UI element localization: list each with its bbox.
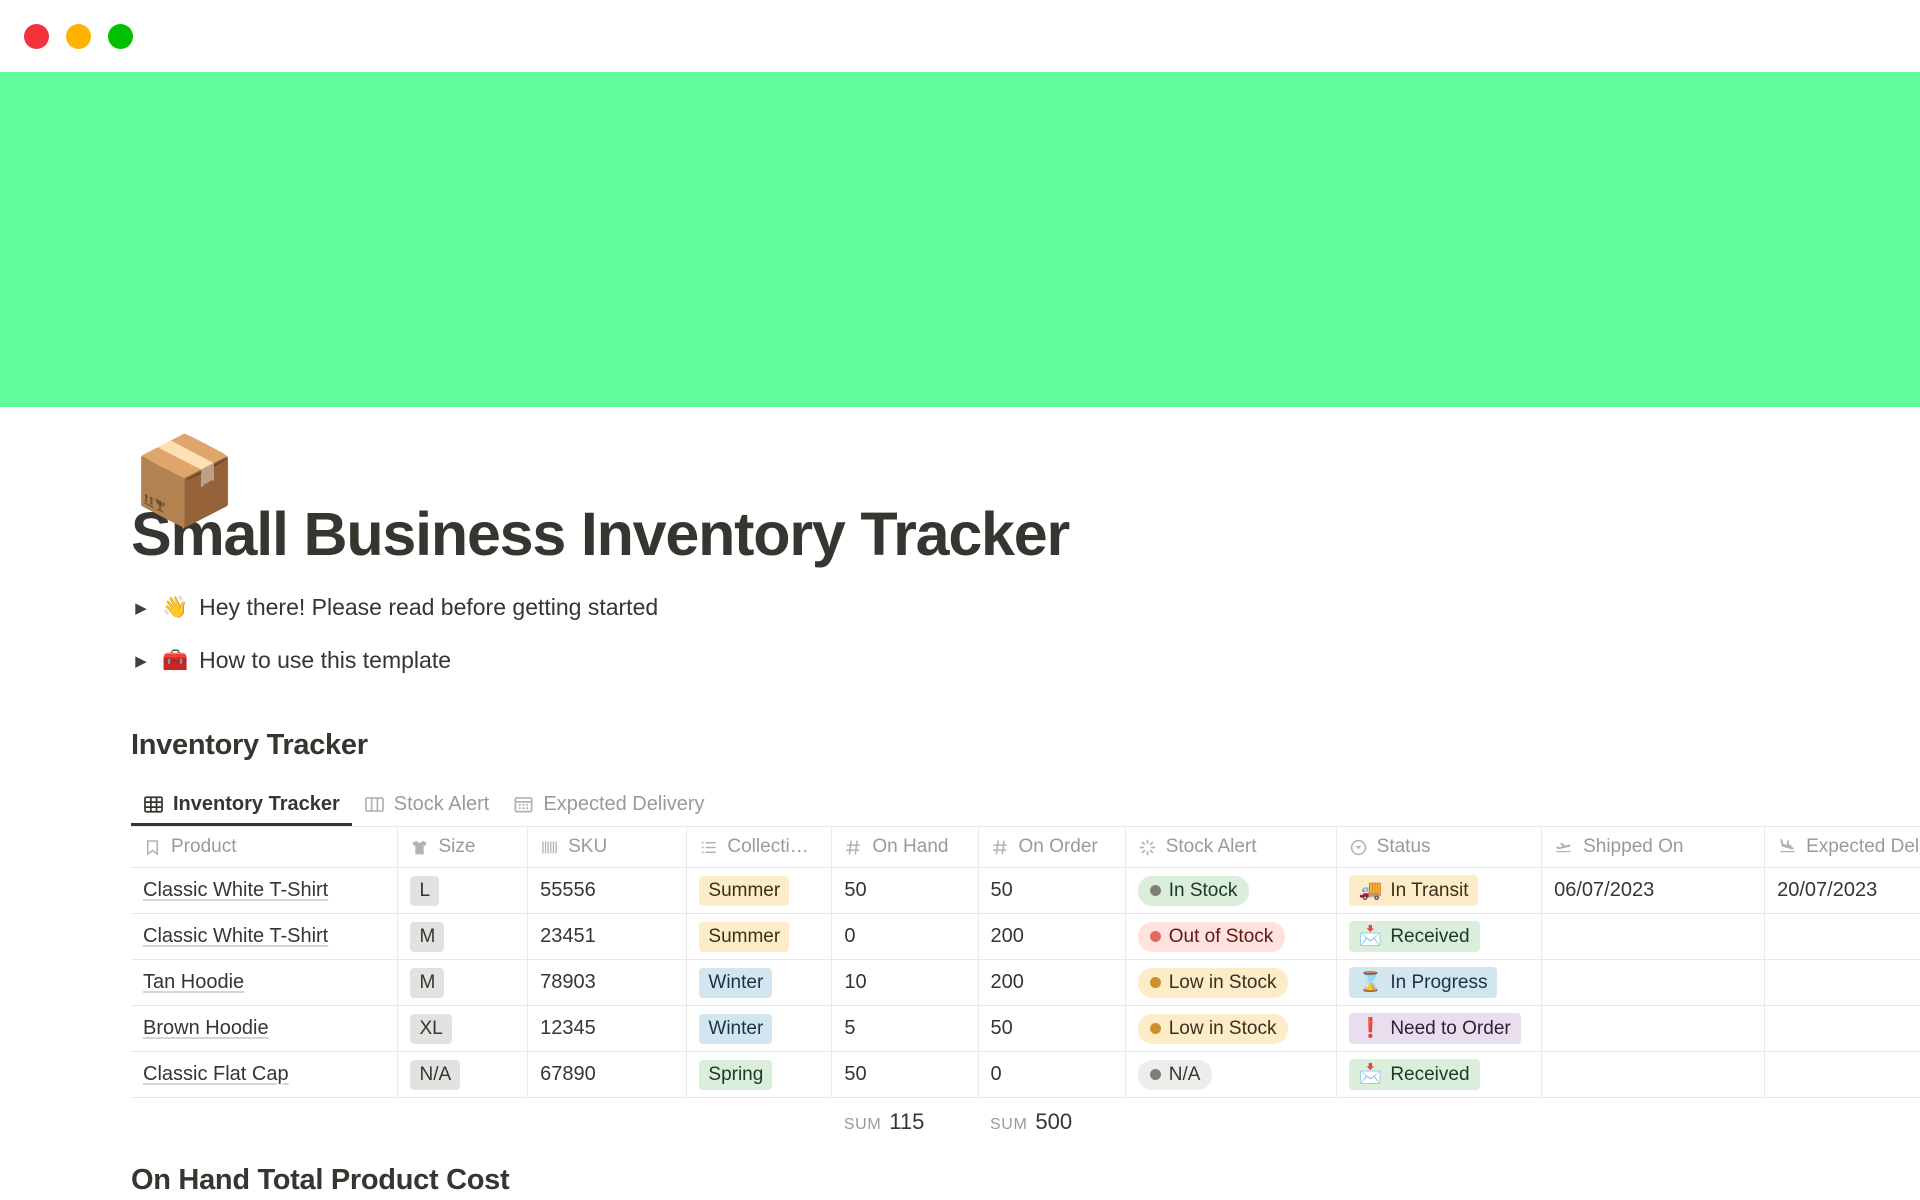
cell-shipped-on[interactable]: 06/07/2023 xyxy=(1542,868,1765,914)
product-link[interactable]: Classic White T-Shirt xyxy=(143,925,328,947)
cell-collection[interactable]: Winter xyxy=(687,1006,832,1052)
toggle-block-welcome[interactable]: ▶ 👋 Hey there! Please read before gettin… xyxy=(131,594,1920,621)
summary-on-hand[interactable]: SUM115 xyxy=(832,1098,978,1142)
cell-on-order[interactable]: 0 xyxy=(978,1052,1125,1098)
table-row[interactable]: Classic White T-Shirt L 55556 Summer 50 … xyxy=(131,868,1920,914)
cell-on-hand[interactable]: 10 xyxy=(832,960,978,1006)
collection-chip: Winter xyxy=(699,1014,772,1044)
status-badge: In Stock xyxy=(1138,876,1250,906)
plane-departure-icon xyxy=(1554,837,1574,857)
cell-collection[interactable]: Winter xyxy=(687,960,832,1006)
cell-stock-alert[interactable]: Low in Stock xyxy=(1125,1006,1336,1052)
cell-stock-alert[interactable]: Low in Stock xyxy=(1125,960,1336,1006)
cell-expected-delivery[interactable] xyxy=(1765,1052,1920,1098)
cell-size[interactable]: M xyxy=(398,914,528,960)
cell-sku[interactable]: 12345 xyxy=(528,1006,687,1052)
toggle-label-welcome: Hey there! Please read before getting st… xyxy=(199,594,658,621)
chevron-right-icon[interactable]: ▶ xyxy=(131,651,151,671)
toolbox-icon: 🧰 xyxy=(162,649,188,673)
status-dot-icon xyxy=(1150,885,1161,896)
tab-inventory-tracker[interactable]: Inventory Tracker xyxy=(131,793,352,826)
cell-status[interactable]: ⌛In Progress xyxy=(1336,960,1541,1006)
cell-collection[interactable]: Summer xyxy=(687,868,832,914)
loading-icon xyxy=(1138,838,1157,857)
column-header-stock-alert[interactable]: Stock Alert xyxy=(1125,827,1336,868)
exclamation-icon: ❗ xyxy=(1359,1016,1383,1041)
status-dot-icon xyxy=(1150,1069,1161,1080)
column-header-label: Stock Alert xyxy=(1166,836,1257,858)
number-icon xyxy=(991,838,1010,857)
cell-sku[interactable]: 55556 xyxy=(528,868,687,914)
status-badge: 🚚In Transit xyxy=(1349,875,1479,906)
status-badge: Out of Stock xyxy=(1138,922,1286,952)
column-header-label: Collecti… xyxy=(727,836,808,858)
board-icon xyxy=(364,794,385,815)
cell-product[interactable]: Classic Flat Cap xyxy=(131,1052,398,1098)
close-button[interactable] xyxy=(24,24,49,49)
column-header-on-hand[interactable]: On Hand xyxy=(832,827,978,868)
inventory-table-wrapper: Product Size xyxy=(0,826,1920,1142)
hourglass-icon: ⌛ xyxy=(1359,970,1383,995)
status-badge: N/A xyxy=(1138,1060,1213,1090)
table-row[interactable]: Tan Hoodie M 78903 Winter 10 200 Low in … xyxy=(131,960,1920,1006)
toggle-block-howto[interactable]: ▶ 🧰 How to use this template xyxy=(131,647,1920,674)
cell-on-order[interactable]: 50 xyxy=(978,1006,1125,1052)
collection-chip: Winter xyxy=(699,968,772,998)
cell-expected-delivery[interactable] xyxy=(1765,960,1920,1006)
bookmark-icon xyxy=(143,838,162,857)
cell-on-hand[interactable]: 50 xyxy=(832,1052,978,1098)
cell-shipped-on[interactable] xyxy=(1542,960,1765,1006)
collection-chip: Spring xyxy=(699,1060,772,1090)
cell-shipped-on[interactable] xyxy=(1542,1052,1765,1098)
status-badge: ⌛In Progress xyxy=(1349,967,1498,998)
truck-icon: 🚚 xyxy=(1359,878,1383,903)
tshirt-icon xyxy=(410,838,429,857)
size-chip: M xyxy=(410,922,444,952)
cell-product[interactable]: Classic White T-Shirt xyxy=(131,914,398,960)
calendar-icon xyxy=(513,794,534,815)
summary-value: 115 xyxy=(889,1109,924,1134)
cell-stock-alert[interactable]: Out of Stock xyxy=(1125,914,1336,960)
cell-on-order[interactable]: 200 xyxy=(978,914,1125,960)
cell-status[interactable]: 🚚In Transit xyxy=(1336,868,1541,914)
cell-on-hand[interactable]: 0 xyxy=(832,914,978,960)
column-header-label: Expected Delivery xyxy=(1806,836,1920,858)
chevron-right-icon[interactable]: ▶ xyxy=(131,598,151,618)
cell-size[interactable]: N/A xyxy=(398,1052,528,1098)
size-chip: XL xyxy=(410,1014,451,1044)
column-header-label: SKU xyxy=(568,836,607,858)
cell-status[interactable]: ❗Need to Order xyxy=(1336,1006,1541,1052)
section-heading-on-hand-total-product-cost: On Hand Total Product Cost xyxy=(131,1164,1920,1197)
minimize-button[interactable] xyxy=(66,24,91,49)
maximize-button[interactable] xyxy=(108,24,133,49)
cell-on-hand[interactable]: 5 xyxy=(832,1006,978,1052)
collection-chip: Summer xyxy=(699,922,789,952)
column-header-label: Size xyxy=(438,836,475,858)
cell-status[interactable]: 📩Received xyxy=(1336,914,1541,960)
column-header-shipped-on[interactable]: Shipped On xyxy=(1542,827,1765,868)
cell-product[interactable]: Brown Hoodie xyxy=(131,1006,398,1052)
cell-stock-alert[interactable]: In Stock xyxy=(1125,868,1336,914)
barcode-icon xyxy=(540,838,559,857)
cell-on-order[interactable]: 200 xyxy=(978,960,1125,1006)
tab-expected-delivery[interactable]: Expected Delivery xyxy=(501,793,716,826)
package-icon[interactable]: 📦 xyxy=(131,438,238,524)
page-cover-image[interactable] xyxy=(0,72,1920,407)
table-summary-row: SUM115 SUM500 xyxy=(131,1098,1920,1142)
cell-shipped-on[interactable] xyxy=(1542,914,1765,960)
column-header-on-order[interactable]: On Order xyxy=(978,827,1125,868)
page-content: 📦 Small Business Inventory Tracker ▶ 👋 H… xyxy=(0,501,1920,1197)
tab-label: Stock Alert xyxy=(394,793,490,816)
column-header-collection[interactable]: Collecti… xyxy=(687,827,832,868)
size-chip: M xyxy=(410,968,444,998)
cell-product[interactable]: Classic White T-Shirt xyxy=(131,868,398,914)
toggle-label-howto: How to use this template xyxy=(199,647,451,674)
column-header-label: Shipped On xyxy=(1583,836,1683,858)
status-dot-icon xyxy=(1150,1023,1161,1034)
status-badge: ❗Need to Order xyxy=(1349,1013,1521,1044)
status-badge: Low in Stock xyxy=(1138,1014,1289,1044)
tab-label: Inventory Tracker xyxy=(173,793,340,816)
summary-label: SUM xyxy=(990,1116,1027,1133)
cell-status[interactable]: 📩Received xyxy=(1336,1052,1541,1098)
table-row[interactable]: Brown Hoodie XL 12345 Winter 5 50 Low in… xyxy=(131,1006,1920,1052)
product-link[interactable]: Classic Flat Cap xyxy=(143,1063,289,1085)
window-titlebar xyxy=(0,0,1920,72)
status-dot-icon xyxy=(1150,931,1161,942)
column-header-label: On Order xyxy=(1019,836,1098,858)
table-row[interactable]: Classic Flat Cap N/A 67890 Spring 50 0 N… xyxy=(131,1052,1920,1098)
cell-expected-delivery[interactable] xyxy=(1765,1006,1920,1052)
cell-product[interactable]: Tan Hoodie xyxy=(131,960,398,1006)
plane-arrival-icon xyxy=(1777,837,1797,857)
cell-sku[interactable]: 78903 xyxy=(528,960,687,1006)
cell-size[interactable]: L xyxy=(398,868,528,914)
status-badge: 📩Received xyxy=(1349,1059,1480,1090)
column-header-status[interactable]: Status xyxy=(1336,827,1541,868)
summary-value: 500 xyxy=(1035,1109,1072,1134)
page-title: Small Business Inventory Tracker xyxy=(131,501,1920,568)
cell-expected-delivery[interactable] xyxy=(1765,914,1920,960)
column-header-label: Status xyxy=(1377,836,1431,858)
wave-icon: 👋 xyxy=(162,596,188,620)
inbox-icon: 📩 xyxy=(1359,924,1383,949)
table-icon xyxy=(143,794,164,815)
cell-expected-delivery[interactable]: 20/07/2023 xyxy=(1765,868,1920,914)
inbox-icon: 📩 xyxy=(1359,1062,1383,1087)
column-header-label: Product xyxy=(171,836,236,858)
column-header-product[interactable]: Product xyxy=(131,827,398,868)
status-badge: 📩Received xyxy=(1349,921,1480,952)
summary-label: SUM xyxy=(844,1116,881,1133)
column-header-label: On Hand xyxy=(872,836,948,858)
cell-on-order[interactable]: 50 xyxy=(978,868,1125,914)
number-icon xyxy=(844,838,863,857)
cell-shipped-on[interactable] xyxy=(1542,1006,1765,1052)
cell-collection[interactable]: Spring xyxy=(687,1052,832,1098)
cell-collection[interactable]: Summer xyxy=(687,914,832,960)
column-header-expected-delivery[interactable]: Expected Delivery xyxy=(1765,827,1920,868)
summary-on-order[interactable]: SUM500 xyxy=(978,1098,1125,1142)
status-dot-icon xyxy=(1150,977,1161,988)
tab-label: Expected Delivery xyxy=(543,793,704,816)
section-heading-inventory-tracker: Inventory Tracker xyxy=(131,729,1920,762)
inventory-table: Product Size xyxy=(131,826,1920,1142)
product-link[interactable]: Tan Hoodie xyxy=(143,971,244,993)
size-chip: L xyxy=(410,876,439,906)
table-header-row: Product Size xyxy=(131,827,1920,868)
cell-sku[interactable]: 23451 xyxy=(528,914,687,960)
select-icon xyxy=(1349,838,1368,857)
database-view-tabs: Inventory Tracker Stock Alert xyxy=(131,784,1920,826)
cell-stock-alert[interactable]: N/A xyxy=(1125,1052,1336,1098)
collection-chip: Summer xyxy=(699,876,789,906)
column-header-size[interactable]: Size xyxy=(398,827,528,868)
list-icon xyxy=(699,838,718,857)
tab-stock-alert[interactable]: Stock Alert xyxy=(352,793,502,826)
product-link[interactable]: Brown Hoodie xyxy=(143,1017,269,1039)
table-body: Classic White T-Shirt L 55556 Summer 50 … xyxy=(131,868,1920,1142)
cell-size[interactable]: XL xyxy=(398,1006,528,1052)
product-link[interactable]: Classic White T-Shirt xyxy=(143,879,328,901)
status-badge: Low in Stock xyxy=(1138,968,1289,998)
column-header-sku[interactable]: SKU xyxy=(528,827,687,868)
cell-sku[interactable]: 67890 xyxy=(528,1052,687,1098)
cell-size[interactable]: M xyxy=(398,960,528,1006)
cell-on-hand[interactable]: 50 xyxy=(832,868,978,914)
size-chip: N/A xyxy=(410,1060,460,1090)
table-row[interactable]: Classic White T-Shirt M 23451 Summer 0 2… xyxy=(131,914,1920,960)
